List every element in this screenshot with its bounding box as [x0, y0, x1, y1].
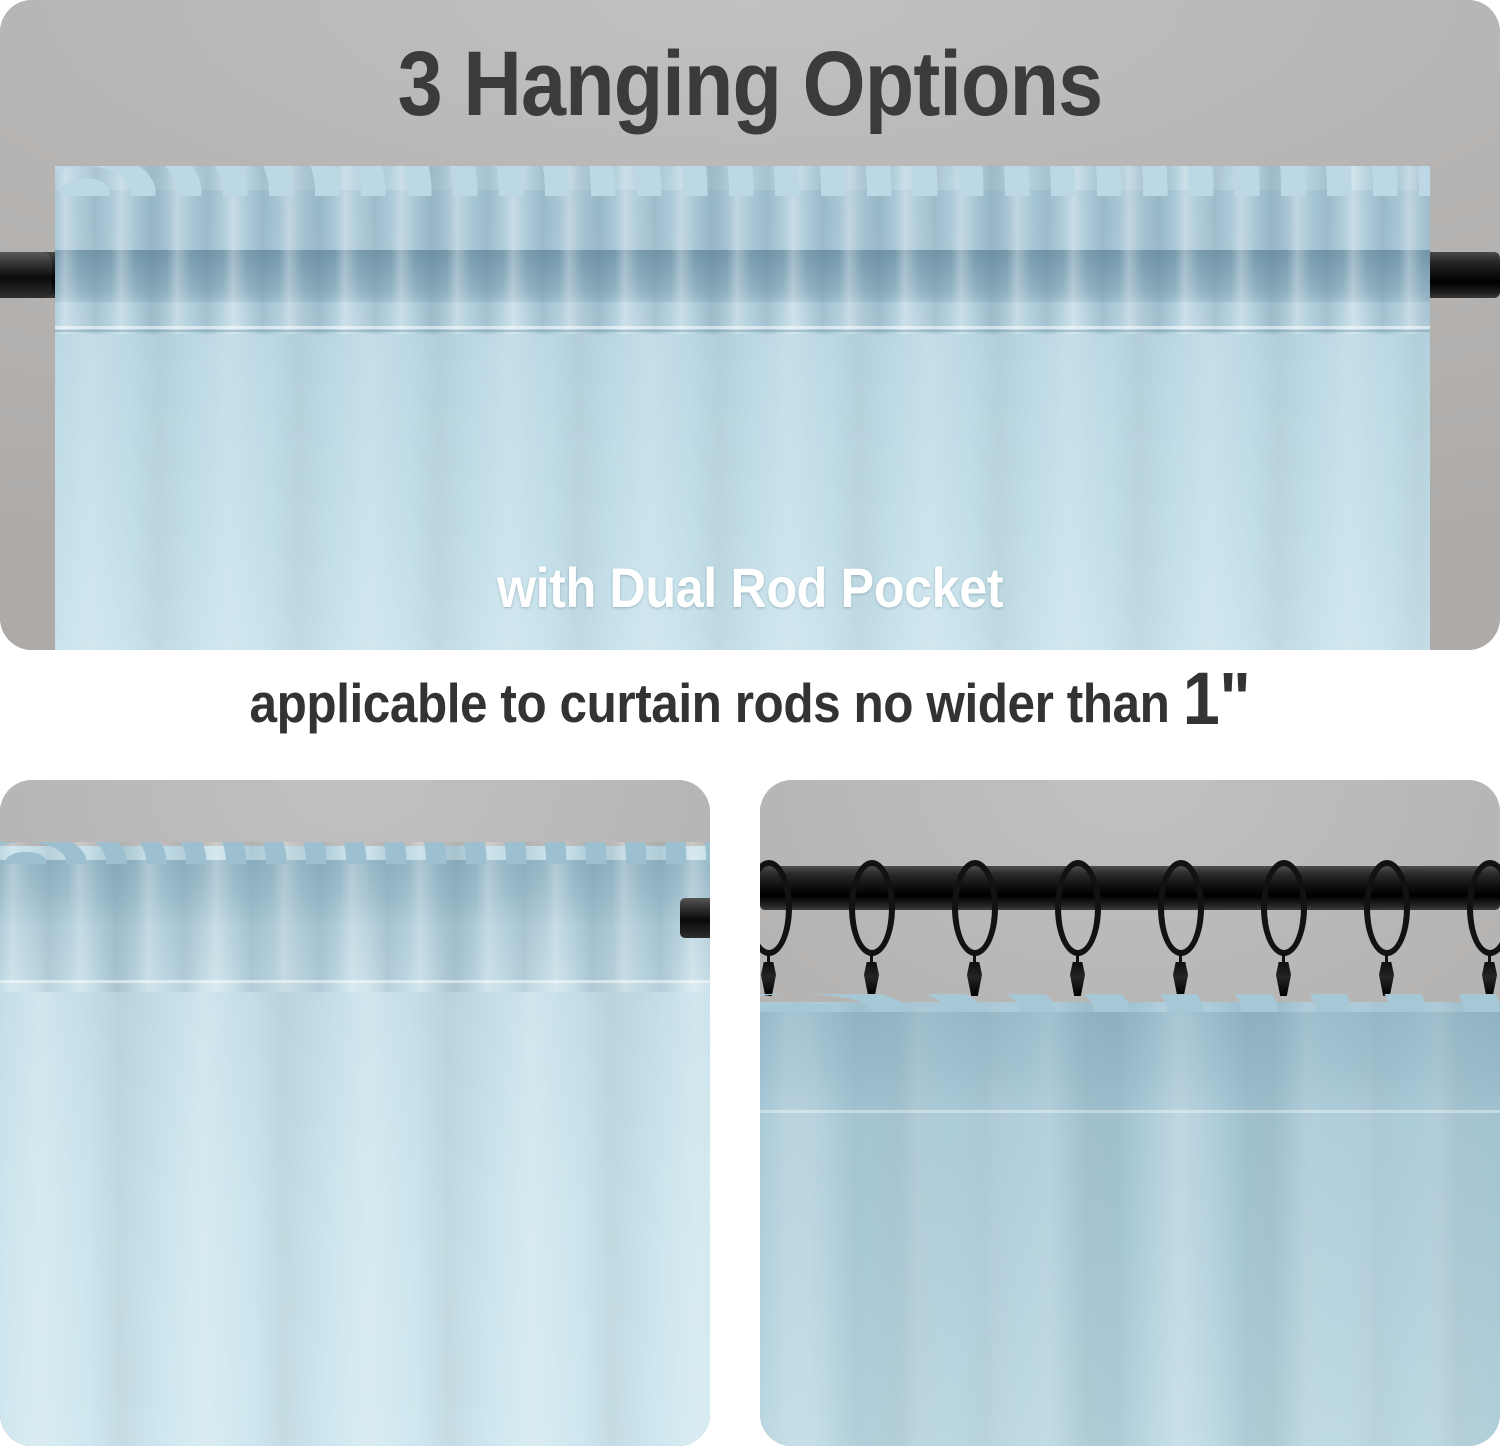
curtain-rod-icon [680, 898, 710, 938]
fabric-gathers [0, 842, 710, 992]
pocket-seam [0, 980, 710, 983]
curtain-clip-icon [967, 962, 982, 996]
curtain-clip-icon [1276, 962, 1291, 996]
pocket-seam-shadow [55, 330, 1430, 332]
page-title: 3 Hanging Options [90, 38, 1410, 130]
curtain-ring-icon [952, 860, 998, 956]
rod-width-value: 1" [1183, 657, 1251, 740]
ruffle-edge [0, 842, 710, 864]
caption-dual-rod-pocket: with Dual Rod Pocket [75, 560, 1425, 616]
pocket-seam [55, 326, 1430, 329]
panel-clips: with Clips(not included) [760, 780, 1500, 1446]
fabric-folds [760, 1002, 1500, 1446]
curtain-ring-icon [1261, 860, 1307, 956]
curtain-clip-icon [1379, 962, 1394, 996]
rod-width-note: applicable to curtain rods no wider than… [75, 668, 1425, 734]
curtain-ring-icon [1364, 860, 1410, 956]
curtain-ring-icon [849, 860, 895, 956]
rod-width-note-text: applicable to curtain rods no wider than [250, 672, 1183, 734]
curtain-ring-icon [1467, 860, 1500, 956]
curtain-top-edge [760, 994, 1500, 1012]
ruffle-edge [55, 166, 1430, 196]
curtain-clip-icon [1070, 962, 1085, 996]
curtain-ring-icon [760, 860, 792, 956]
curtain-clip-icon [761, 962, 776, 996]
hanging-options-infographic: with Dual Rod Pocket 3 Hanging Options a… [0, 0, 1500, 1446]
curtain-ring-icon [1055, 860, 1101, 956]
curtain-ring-icon [1158, 860, 1204, 956]
panel-pole-top: Pole Top - with bottom hem [0, 780, 710, 1446]
curtain-rod-end-icon [0, 252, 52, 298]
curtain-clip-icon [864, 962, 879, 996]
curtain-seam [760, 1110, 1500, 1113]
curtain-clip-icon [1173, 962, 1188, 996]
curtain-clip-icon [1482, 962, 1497, 996]
